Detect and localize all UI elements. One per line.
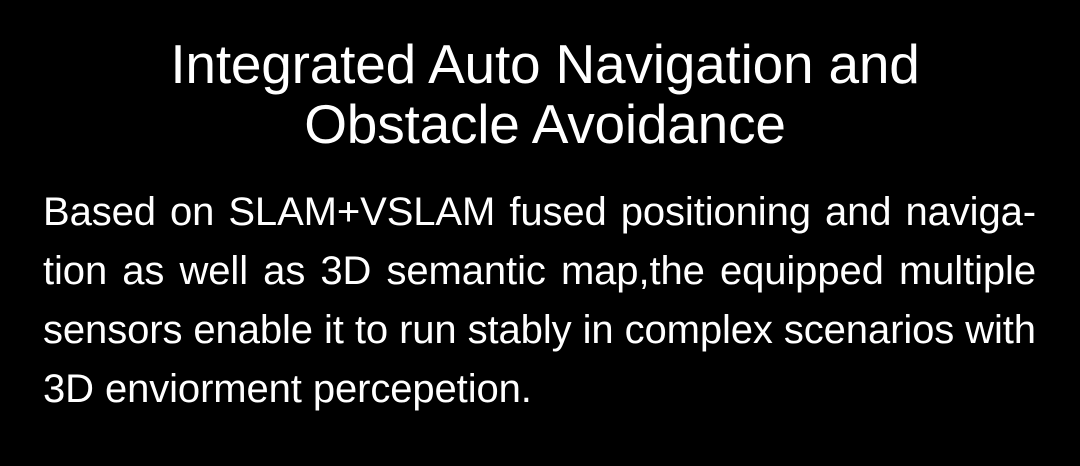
body-word: naviga-: [905, 183, 1036, 242]
body-line-2: tionaswellas3Dsemanticmap,theequippedmul…: [43, 242, 1036, 301]
body-word: 3D: [320, 242, 371, 301]
body-word: multiple: [899, 242, 1036, 301]
body-line-4: 3D enviorment percepetion.: [43, 360, 1036, 419]
body-word: SLAM+VSLAM: [228, 183, 495, 242]
body-word: map,the: [561, 242, 705, 301]
body-word: complex: [625, 301, 773, 360]
slide-title: Integrated Auto Navigation and Obstacle …: [0, 34, 1080, 154]
title-line-2: Obstacle Avoidance: [0, 94, 1080, 154]
body-word: to: [355, 301, 388, 360]
slide-body-text: BasedonSLAM+VSLAMfusedpositioningandnavi…: [43, 183, 1036, 419]
body-word: in: [583, 301, 614, 360]
body-word: well: [179, 242, 248, 301]
slide-canvas: Integrated Auto Navigation and Obstacle …: [0, 0, 1080, 466]
body-word: tion: [43, 242, 107, 301]
body-word: run: [399, 301, 457, 360]
title-line-1: Integrated Auto Navigation and: [0, 34, 1080, 94]
body-word: as: [263, 242, 305, 301]
body-word: it: [324, 301, 344, 360]
body-word: semantic: [387, 242, 546, 301]
body-word: sensors: [43, 301, 182, 360]
body-word: on: [170, 183, 214, 242]
body-line-3: sensorsenableittorunstablyincomplexscena…: [43, 301, 1036, 360]
body-word: enable: [193, 301, 313, 360]
body-word: fused: [509, 183, 606, 242]
body-word: and: [825, 183, 891, 242]
body-line-1: BasedonSLAM+VSLAMfusedpositioningandnavi…: [43, 183, 1036, 242]
body-word: scenarios: [784, 301, 954, 360]
body-word: as: [122, 242, 164, 301]
body-word: with: [965, 301, 1036, 360]
body-word: equipped: [720, 242, 884, 301]
body-word: Based: [43, 183, 156, 242]
body-word: positioning: [621, 183, 811, 242]
body-word: stably: [468, 301, 572, 360]
